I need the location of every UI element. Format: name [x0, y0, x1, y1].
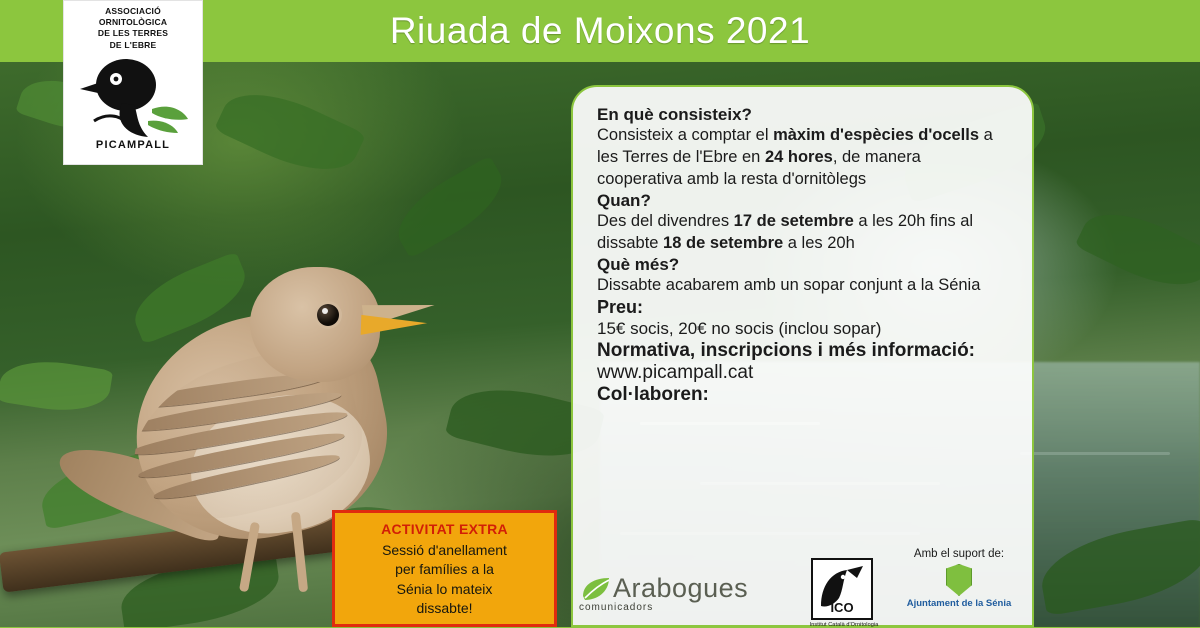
support-name: Ajuntament de la Sénia — [889, 598, 1029, 609]
bird-eye-glint — [322, 308, 328, 314]
answer-when-bold-1: 17 de setembre — [734, 212, 854, 230]
support-block: Amb el suport de: Ajuntament de la Sénia — [889, 548, 1029, 609]
question-price: Preu: — [597, 297, 1008, 318]
extra-activity-line-3: Sénia lo mateix — [343, 580, 546, 599]
answer-what: Consisteix a comptar el màxim d'espècies… — [597, 125, 1008, 191]
info-heading: Normativa, inscripcions i més informació… — [597, 340, 1008, 362]
logo-org-line-2: ORNITOLÒGICA — [64, 17, 202, 28]
extra-activity-line-2: per famílies a la — [343, 560, 546, 579]
answer-when-text-1: Des del divendres — [597, 212, 734, 230]
ico-caption: Institut Català d'Ornitologia — [809, 622, 879, 628]
question-what: En què consisteix? — [597, 105, 1008, 125]
extra-activity-line-4: dissabte! — [343, 599, 546, 618]
answer-what-bold-2: 24 hores — [765, 148, 833, 166]
collaborators-heading: Col·laboren: — [597, 384, 1008, 406]
sponsors-row: Arabogues comunicadors ICO Institut Cata… — [571, 548, 1034, 627]
support-title: Amb el suport de: — [889, 548, 1029, 560]
answer-when: Des del divendres 17 de setembre a les 2… — [597, 211, 1008, 255]
picampall-logo: ASSOCIACIÓ ORNITOLÒGICA DE LES TERRES DE… — [63, 0, 203, 165]
answer-what-bold-1: màxim d'espècies d'ocells — [773, 126, 979, 144]
arabogues-logo: Arabogues comunicadors — [579, 573, 769, 613]
svg-text:ICO: ICO — [830, 600, 853, 615]
question-what-else: Què més? — [597, 255, 1008, 275]
bird-eye — [317, 304, 339, 326]
town-crest-icon — [946, 564, 972, 596]
bird-logo-icon — [64, 51, 202, 143]
leaf-bird-icon — [579, 574, 613, 604]
arabogues-name: Arabogues — [613, 573, 748, 604]
logo-org-line-3: DE LES TERRES — [64, 28, 202, 39]
info-panel: En què consisteix? Consisteix a comptar … — [571, 85, 1034, 627]
answer-what-text-1: Consisteix a comptar el — [597, 126, 773, 144]
poster-root: Riuada de Moixons 2021 — [0, 0, 1200, 627]
answer-when-bold-2: 18 de setembre — [663, 234, 783, 252]
answer-price: 15€ socis, 20€ no socis (inclou sopar) — [597, 318, 1008, 341]
extra-activity-box: ACTIVITAT EXTRA Sessió d'anellament per … — [332, 510, 557, 627]
logo-org-line-1: ASSOCIACIÓ — [64, 6, 202, 17]
bird-beak-lower — [361, 315, 428, 337]
logo-org-line-4: DE L'EBRE — [64, 40, 202, 51]
website-link[interactable]: www.picampall.cat — [597, 362, 1008, 384]
answer-when-text-3: a les 20h — [783, 234, 855, 252]
ico-logo: ICO — [811, 558, 873, 620]
question-when: Quan? — [597, 191, 1008, 211]
water-streak — [1020, 452, 1170, 455]
extra-activity-line-1: Sessió d'anellament — [343, 541, 546, 560]
extra-activity-title: ACTIVITAT EXTRA — [335, 521, 554, 537]
answer-what-else: Dissabte acabarem amb un sopar conjunt a… — [597, 275, 1008, 297]
